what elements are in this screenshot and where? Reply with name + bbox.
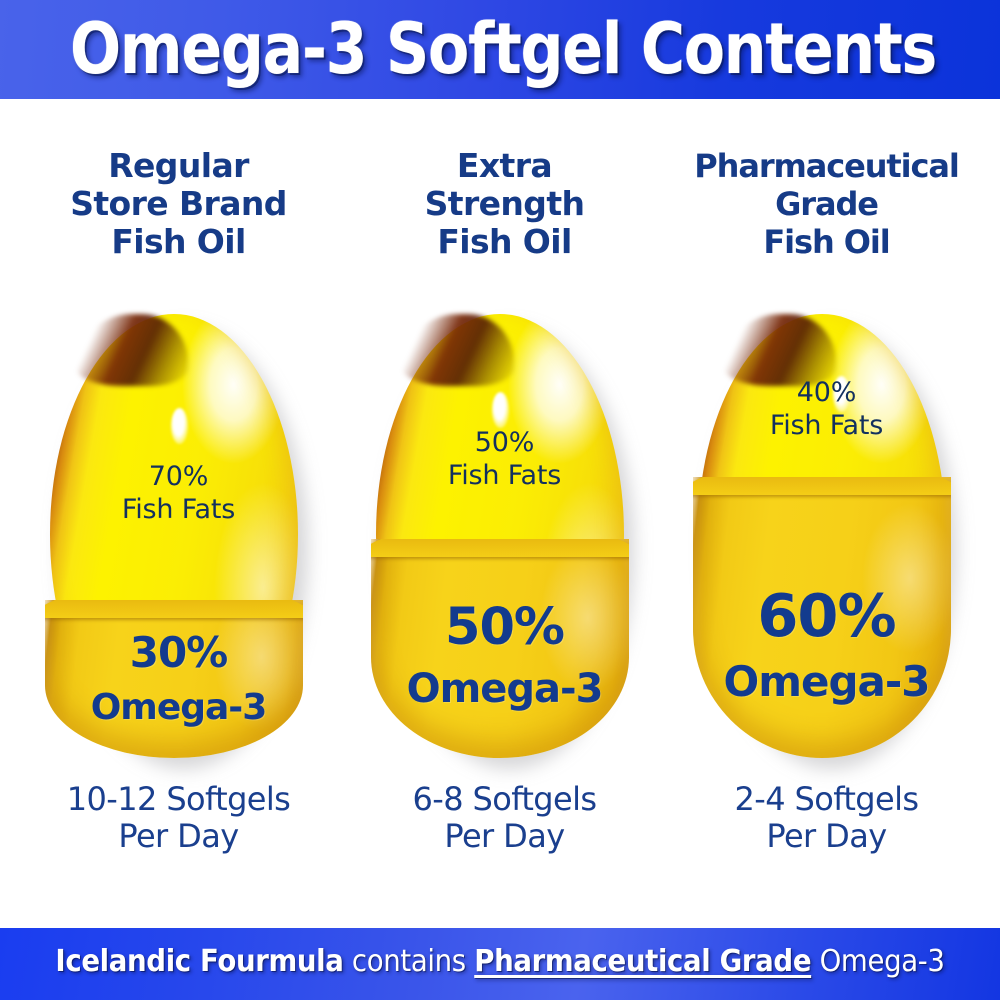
- softgel-capsule-extra-strength: 50% Fish Fats 50% Omega-3: [376, 314, 634, 769]
- page-title: Omega-3 Softgel Contents: [70, 7, 930, 91]
- dosage-label: 10-12 Softgels Per Day: [2, 781, 355, 855]
- column-heading: Extra Strength Fish Oil: [338, 147, 671, 261]
- footer-tail: Omega-3: [811, 944, 944, 979]
- capsule-amber-crown-icon: [402, 314, 514, 386]
- dosage-label: 6-8 Softgels Per Day: [328, 781, 681, 855]
- product-column-pharmaceutical: Pharmaceutical Grade Fish Oil 40% Fish F…: [660, 99, 993, 925]
- capsule-highlight-icon: [492, 392, 509, 428]
- footer-middle: contains: [344, 944, 475, 979]
- footer-banner: Icelandic Fourmula contains Pharmaceutic…: [0, 928, 1000, 1000]
- omega3-word: Omega-3: [698, 661, 956, 703]
- fill-lip: [693, 477, 951, 495]
- fish-fats-label: 40% Fish Fats: [698, 376, 956, 442]
- column-heading: Regular Store Brand Fish Oil: [12, 147, 345, 261]
- capsule-highlight-icon: [171, 408, 188, 444]
- softgel-capsule-regular: 70% Fish Fats 30% Omega-3: [50, 314, 308, 769]
- column-heading: Pharmaceutical Grade Fish Oil: [660, 147, 993, 261]
- footer-brand: Icelandic Fourmula: [55, 944, 343, 979]
- fish-fats-label: 70% Fish Fats: [50, 460, 308, 526]
- omega3-word: Omega-3: [376, 669, 634, 709]
- omega3-percent: 30%: [50, 632, 308, 674]
- footer-emphasis: Pharmaceutical Grade: [474, 944, 811, 979]
- product-column-regular: Regular Store Brand Fish Oil 70% Fish Fa…: [12, 99, 345, 925]
- dosage-label: 2-4 Softgels Per Day: [650, 781, 1000, 855]
- footer-tagline: Icelandic Fourmula contains Pharmaceutic…: [40, 942, 960, 982]
- omega3-percent: 60%: [698, 586, 956, 645]
- omega3-label: 60% Omega-3: [698, 570, 956, 719]
- fill-lip: [371, 539, 629, 557]
- omega3-word: Omega-3: [50, 690, 308, 726]
- omega3-percent: 50%: [376, 602, 634, 653]
- fish-fats-label: 50% Fish Fats: [376, 426, 634, 492]
- omega3-label: 50% Omega-3: [376, 586, 634, 725]
- softgel-capsule-pharmaceutical: 40% Fish Fats 60% Omega-3: [698, 314, 956, 769]
- comparison-area: Regular Store Brand Fish Oil 70% Fish Fa…: [0, 99, 1000, 925]
- product-column-extra-strength: Extra Strength Fish Oil 50% Fish Fats 50…: [338, 99, 671, 925]
- capsule-amber-crown-icon: [76, 314, 188, 386]
- header-banner: Omega-3 Softgel Contents: [0, 0, 1000, 99]
- omega3-label: 30% Omega-3: [50, 616, 308, 742]
